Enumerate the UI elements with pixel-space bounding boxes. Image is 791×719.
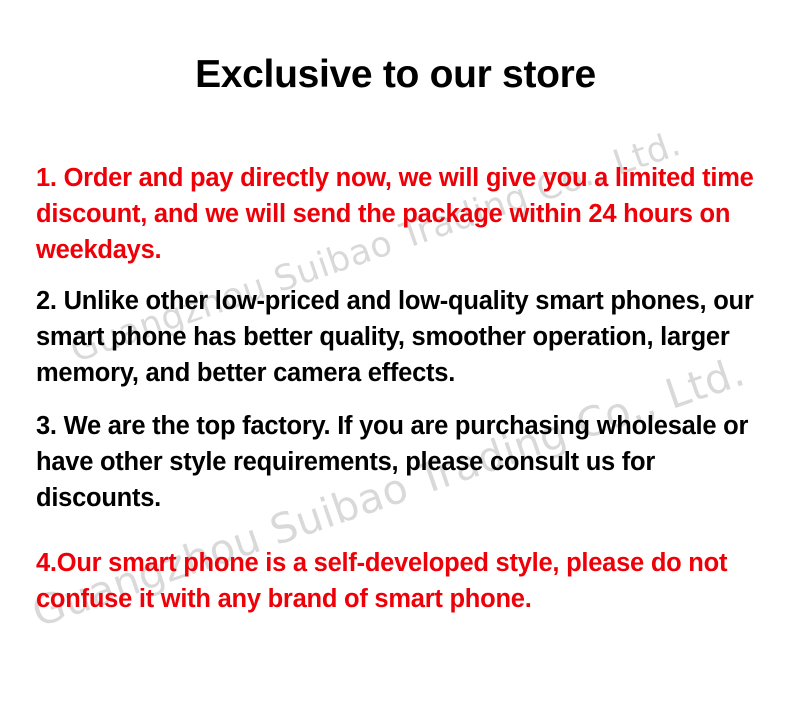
paragraph-1-text: 1. Order and pay directly now, we will g… [36, 160, 758, 268]
page-title: Exclusive to our store [0, 54, 791, 97]
document-page: Guangzhou Suibao Trading Co., Ltd. Guang… [0, 0, 791, 719]
paragraph-block-4: 4.Our smart phone is a self-developed st… [36, 545, 758, 617]
paragraph-block-1: 1. Order and pay directly now, we will g… [36, 160, 758, 268]
paragraph-block-2: 2. Unlike other low-priced and low-quali… [36, 283, 758, 391]
paragraph-block-3: 3. We are the top factory. If you are pu… [36, 408, 758, 516]
paragraph-3-text: 3. We are the top factory. If you are pu… [36, 408, 758, 516]
document-content: Exclusive to our store 1. Order and pay … [0, 0, 791, 719]
paragraph-2-text: 2. Unlike other low-priced and low-quali… [36, 283, 758, 391]
paragraph-4-text: 4.Our smart phone is a self-developed st… [36, 545, 758, 617]
